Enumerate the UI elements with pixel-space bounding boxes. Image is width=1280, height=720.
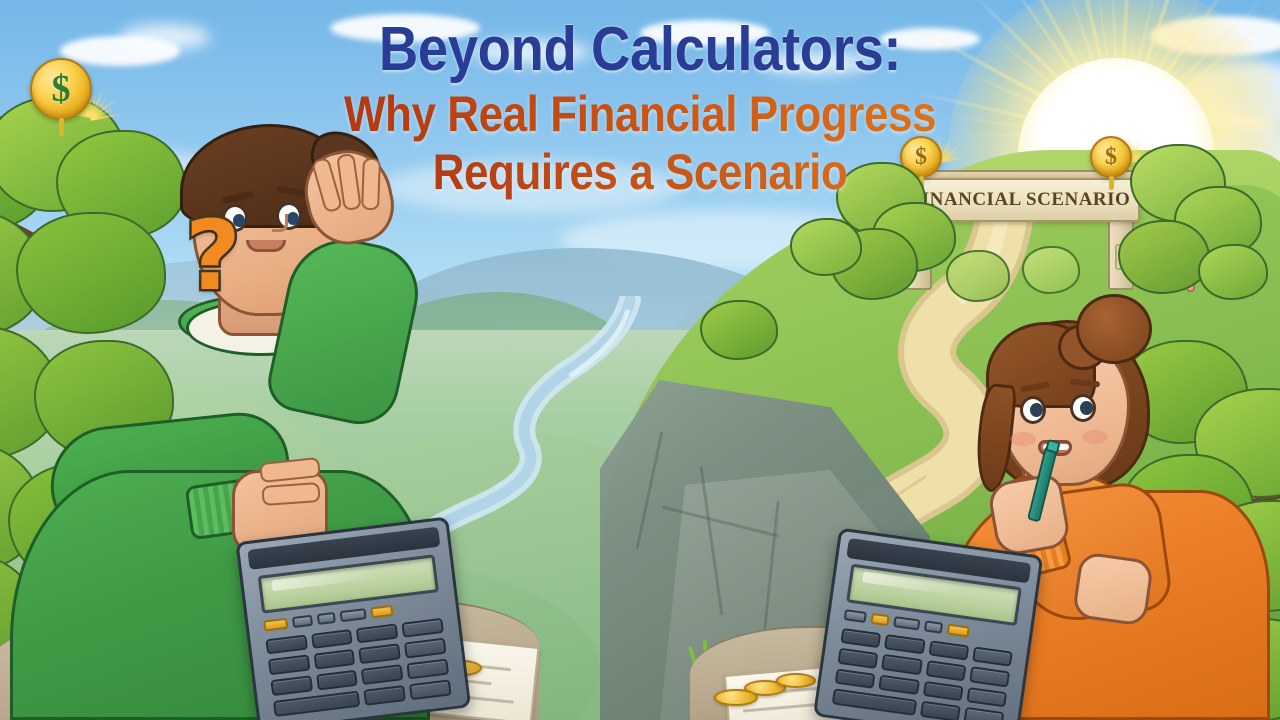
man-finger <box>361 158 381 211</box>
cloud <box>330 14 480 42</box>
woman-blush <box>1082 430 1108 444</box>
ridge-tree <box>1022 246 1080 294</box>
calculator-function-key[interactable] <box>291 615 312 628</box>
calculator-key[interactable] <box>969 666 1010 687</box>
ridge-tree <box>700 300 778 360</box>
woman-eye <box>1070 394 1096 422</box>
calculator-key[interactable] <box>878 674 919 695</box>
ridge-tree <box>790 218 862 276</box>
calculator-left[interactable] <box>235 516 471 720</box>
calculator-key[interactable] <box>922 681 963 702</box>
cloud <box>470 40 590 64</box>
man-finger <box>261 482 320 506</box>
calculator-clear-key[interactable] <box>370 605 393 619</box>
calculator-function-key[interactable] <box>924 621 943 634</box>
calculator-key[interactable] <box>919 701 960 720</box>
man-nose <box>272 214 288 232</box>
ridge-tree <box>946 250 1010 302</box>
calculator-key[interactable] <box>265 634 308 655</box>
dollar-sign: $ <box>1105 144 1117 171</box>
calculator-key[interactable] <box>838 648 879 669</box>
calculator-key[interactable] <box>840 628 881 649</box>
coin-stem <box>59 118 64 136</box>
woman-pupil <box>1080 401 1093 415</box>
gold-coin <box>776 673 816 688</box>
tree-foliage <box>1118 220 1210 294</box>
woman-pupil <box>1030 403 1043 417</box>
cloud <box>760 52 870 74</box>
woman-hand-holding-calculator <box>1072 551 1154 627</box>
illustration-canvas: FINANCIAL SCENARIO $ $ $ $ <box>0 0 1280 720</box>
calculator-key[interactable] <box>316 670 359 691</box>
ridge-tree <box>1198 244 1268 300</box>
dollar-coin: $ <box>30 58 92 120</box>
calculator-key-equals[interactable] <box>409 679 452 700</box>
calculator-key[interactable] <box>972 646 1013 667</box>
calculator-memory-key[interactable] <box>870 613 889 626</box>
calculator-key[interactable] <box>928 640 969 661</box>
display-glare <box>271 568 372 591</box>
question-mark-icon: ? <box>178 212 248 308</box>
calculator-key[interactable] <box>407 659 450 680</box>
calculator-function-key[interactable] <box>316 612 335 625</box>
cloud <box>120 24 210 50</box>
calculator-key[interactable] <box>359 644 402 665</box>
calculator-key-zero[interactable] <box>273 691 361 717</box>
calculator-key[interactable] <box>835 668 876 689</box>
calculator-key[interactable] <box>402 618 445 639</box>
gold-coin <box>714 689 758 706</box>
woman-hair-bun <box>1076 294 1152 364</box>
calculator-clear-key[interactable] <box>947 624 970 638</box>
calculator-keypad[interactable] <box>832 628 1013 720</box>
calculator-keypad[interactable] <box>265 618 452 717</box>
calculator-function-key[interactable] <box>893 616 920 631</box>
calculator-key[interactable] <box>364 685 407 706</box>
woman-blush <box>1010 432 1036 446</box>
calculator-memory-key[interactable] <box>263 618 288 632</box>
calculator-key[interactable] <box>356 623 399 644</box>
calculator-key[interactable] <box>361 664 404 685</box>
dollar-sign: $ <box>52 67 71 111</box>
woman-eye <box>1020 396 1046 424</box>
calculator-key[interactable] <box>311 629 354 650</box>
man-mouth <box>246 240 286 252</box>
coin-stem <box>1109 176 1114 190</box>
calculator-key[interactable] <box>270 676 313 697</box>
cloud <box>380 160 680 214</box>
calculator-key[interactable] <box>404 638 447 659</box>
calculator-key[interactable] <box>884 634 925 655</box>
calculator-function-key[interactable] <box>844 609 867 623</box>
calculator-right[interactable] <box>813 528 1043 720</box>
calculator-key[interactable] <box>966 687 1007 708</box>
display-glare <box>862 571 959 595</box>
calculator-key-equals[interactable] <box>963 707 1004 720</box>
calculator-key[interactable] <box>267 655 310 676</box>
calculator-key[interactable] <box>925 660 966 681</box>
calculator-key[interactable] <box>881 654 922 675</box>
man-pupil <box>287 212 299 225</box>
calculator-key[interactable] <box>313 649 356 670</box>
calculator-function-key[interactable] <box>339 608 366 622</box>
cloud <box>640 20 770 46</box>
